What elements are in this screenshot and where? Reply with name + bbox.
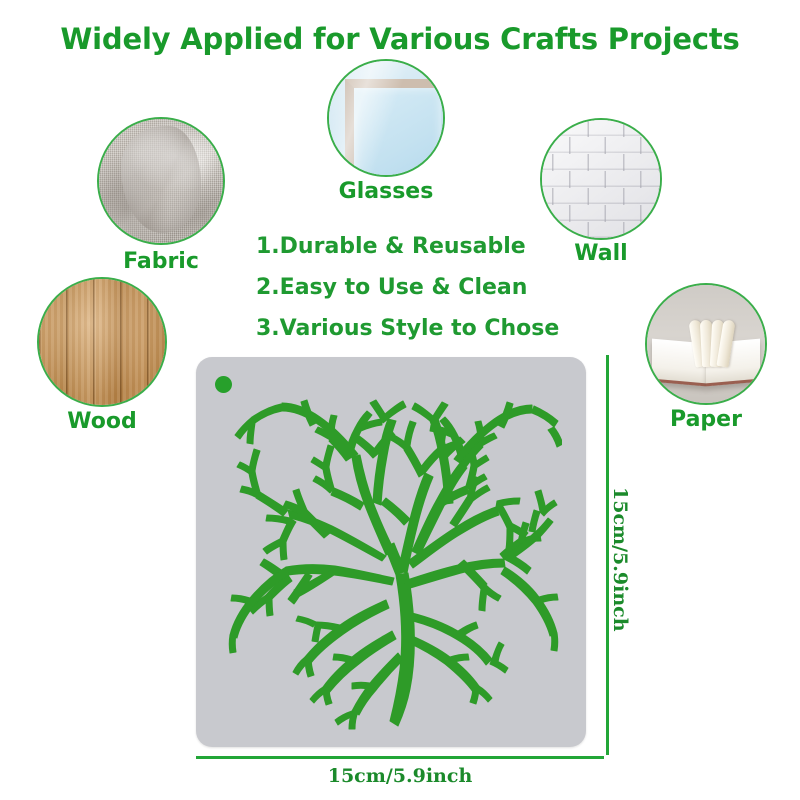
material-card-wall: Wall (540, 118, 662, 240)
glass-pane-icon (327, 59, 445, 177)
material-label-wood: Wood (7, 409, 197, 434)
open-book-icon (645, 283, 767, 405)
material-label-paper: Paper (615, 407, 797, 432)
material-card-paper: Paper (645, 283, 767, 405)
dimension-label-height: 15cm/5.9inch (609, 487, 631, 627)
wood-plank-icon (37, 277, 167, 407)
material-label-fabric: Fabric (67, 249, 255, 274)
infographic-canvas: Widely Applied for Various Crafts Projec… (0, 0, 800, 800)
brick-wall-icon (540, 118, 662, 240)
material-card-glasses: Glasses (327, 59, 445, 177)
dimension-label-width: 15cm/5.9inch (196, 765, 604, 787)
heart-tree-stencil (196, 357, 586, 747)
feature-list: 1.Durable & Reusable 2.Easy to Use & Cle… (256, 226, 556, 349)
feature-item-2: 2.Easy to Use & Clean (256, 267, 556, 308)
feature-item-3: 3.Various Style to Chose (256, 308, 556, 349)
dimension-line-horizontal (196, 756, 604, 759)
page-title: Widely Applied for Various Crafts Projec… (0, 22, 800, 56)
tree-of-life-heart-design (222, 385, 562, 731)
material-card-fabric: Fabric (97, 117, 225, 245)
fabric-swatch-icon (97, 117, 225, 245)
feature-item-1: 1.Durable & Reusable (256, 226, 556, 267)
material-label-glasses: Glasses (297, 179, 475, 204)
material-card-wood: Wood (37, 277, 167, 407)
